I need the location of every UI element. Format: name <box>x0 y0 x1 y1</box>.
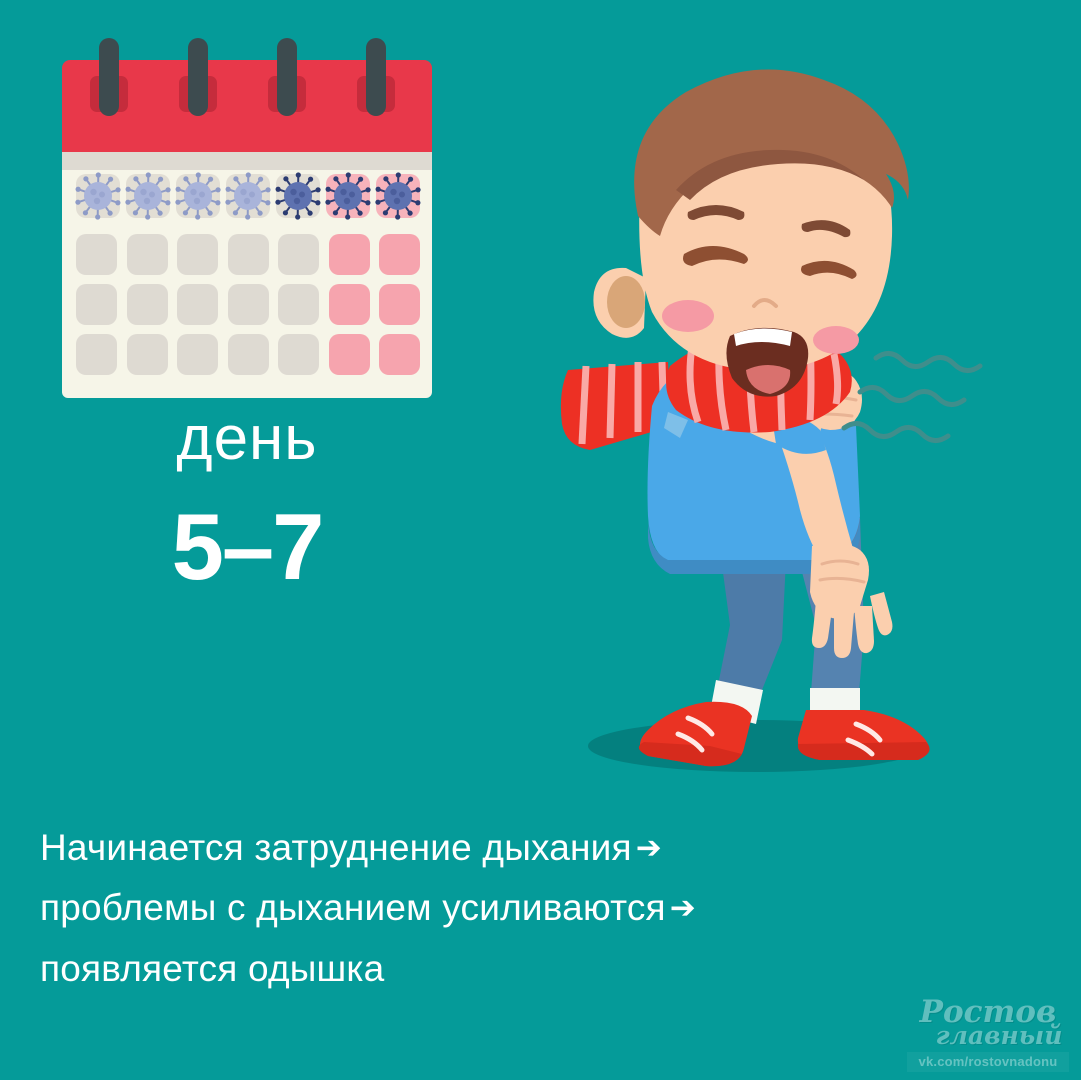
calendar-binding-ring <box>99 38 119 116</box>
calendar-day-cell <box>228 284 269 325</box>
calendar-day-cell <box>177 234 218 275</box>
calendar-virus-day-5 <box>276 174 320 218</box>
day-number: 5–7 <box>62 500 432 594</box>
calendar-day-cell <box>228 234 269 275</box>
caption-text-block: Начинается затруднение дыхания ➔проблемы… <box>40 818 1000 999</box>
cough-waves <box>844 353 980 440</box>
calendar-day-cell <box>278 334 319 375</box>
caption-line-3: появляется одышка <box>40 939 1000 999</box>
calendar-day-cell <box>329 334 370 375</box>
calendar-day-cell <box>127 334 168 375</box>
calendar-grid-row <box>76 284 420 325</box>
watermark-url: vk.com/rostovnadonu <box>907 1052 1069 1072</box>
calendar-day-cell <box>329 284 370 325</box>
calendar-day-cell <box>76 334 117 375</box>
calendar-virus-day-4 <box>226 174 270 218</box>
calendar-grid-row <box>76 234 420 275</box>
calendar-binding-ring <box>366 38 386 116</box>
caption-line-text: появляется одышка <box>40 948 384 989</box>
caption-line-text: Начинается затруднение дыхания <box>40 827 632 868</box>
calendar-day-cell <box>379 234 420 275</box>
calendar-subheader-strip <box>62 152 432 170</box>
calendar-day-cell <box>278 234 319 275</box>
watermark: Ростов главный vk.com/rostovnadonu <box>907 998 1069 1072</box>
cheek-left <box>662 300 714 332</box>
cough-wave <box>844 423 948 440</box>
calendar-binding-ring <box>277 38 297 116</box>
caption-line-text: проблемы с дыханием усиливаются <box>40 887 666 928</box>
calendar-day-cell <box>127 234 168 275</box>
calendar-day-cell <box>379 334 420 375</box>
calendar-day-cell <box>127 284 168 325</box>
calendar-day-cell <box>76 284 117 325</box>
calendar-virus-day-7 <box>376 174 420 218</box>
infographic-poster: день 5–7 <box>0 0 1081 1080</box>
calendar-binding-ring <box>188 38 208 116</box>
calendar-virus-row <box>76 174 420 228</box>
coughing-boy-illustration <box>520 40 990 780</box>
calendar-day-cell <box>177 284 218 325</box>
calendar-illustration <box>62 38 432 398</box>
watermark-line2: главный <box>929 1023 1069 1048</box>
calendar-day-cell <box>278 284 319 325</box>
calendar-day-cell <box>177 334 218 375</box>
cheek-right <box>813 326 859 354</box>
calendar-day-cell <box>76 234 117 275</box>
arrow-right-icon: ➔ <box>666 883 696 934</box>
cough-wave <box>860 387 964 404</box>
day-label: день <box>62 408 432 470</box>
calendar-day-cell <box>228 334 269 375</box>
calendar-virus-day-2 <box>126 174 170 218</box>
calendar-virus-day-6 <box>326 174 370 218</box>
calendar-virus-day-3 <box>176 174 220 218</box>
calendar-grid-row <box>76 334 420 375</box>
open-hand <box>810 543 892 658</box>
ear-inner <box>607 276 645 328</box>
calendar-day-cell <box>379 284 420 325</box>
calendar-day-grid <box>76 234 420 384</box>
caption-line-1: Начинается затруднение дыхания ➔ <box>40 818 1000 878</box>
calendar-virus-day-1 <box>76 174 120 218</box>
caption-line-2: проблемы с дыханием усиливаются ➔ <box>40 878 1000 938</box>
arrow-right-icon: ➔ <box>632 823 662 874</box>
calendar-day-cell <box>329 234 370 275</box>
cough-wave <box>876 353 980 370</box>
